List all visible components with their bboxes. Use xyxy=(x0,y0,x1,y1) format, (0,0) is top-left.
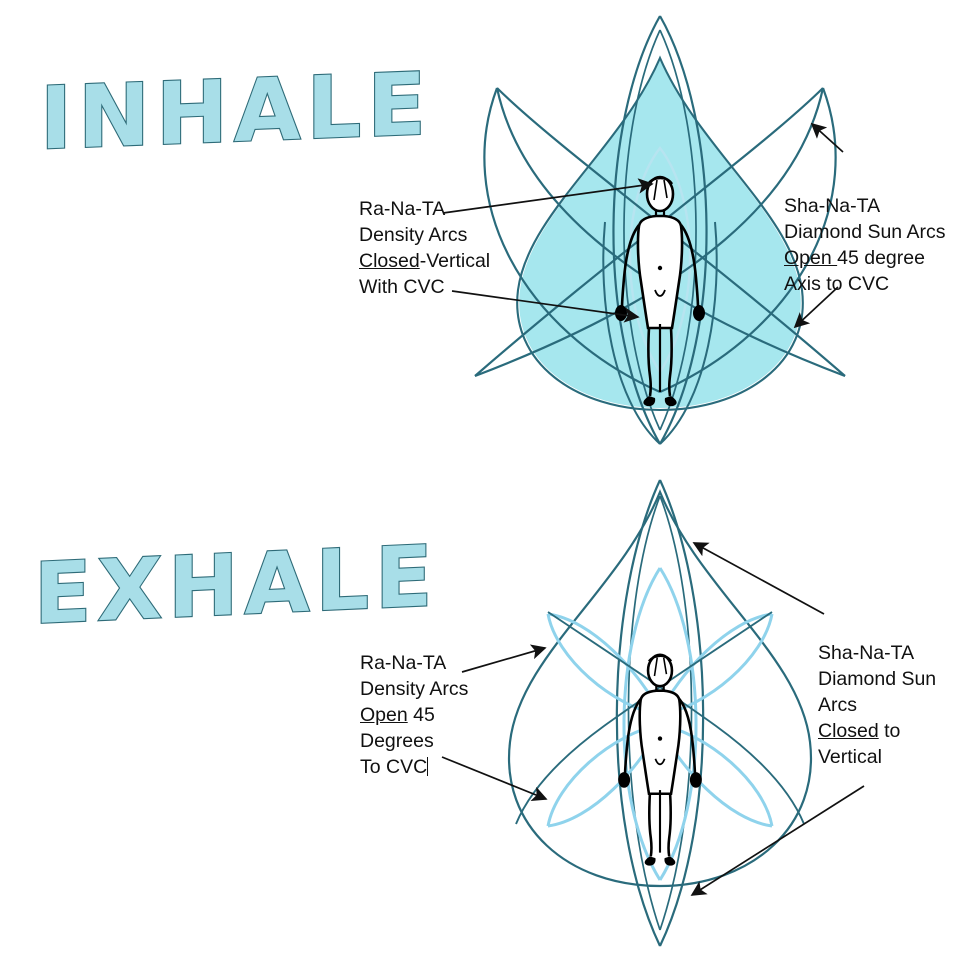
text-caret xyxy=(427,757,428,776)
annotation-line: Sha-Na-TA xyxy=(818,640,936,666)
diagram-canvas: INHALE EXHALE Ra-Na-TA Density Arcs Clos… xyxy=(0,0,960,960)
annotation-line: Vertical xyxy=(818,744,936,770)
annotation-line: Open 45 degree xyxy=(784,245,946,271)
annotation-line: With CVC xyxy=(359,274,490,300)
annotation-line: Degrees xyxy=(360,728,468,754)
exhale-right-lower-arrow xyxy=(692,786,864,895)
exhale-left-annotation: Ra-Na-TA Density Arcs Open 45 Degrees To… xyxy=(360,650,468,780)
inhale-left-annotation: Ra-Na-TA Density Arcs Closed-Vertical Wi… xyxy=(359,196,490,300)
exhale-title: EXHALE xyxy=(34,527,438,643)
annotation-line: Axis to CVC xyxy=(784,271,946,297)
annotation-line: Density Arcs xyxy=(359,222,490,248)
annotation-line: Diamond Sun xyxy=(818,666,936,692)
annotation-line: Ra-Na-TA xyxy=(359,196,490,222)
inhale-right-annotation: Sha-Na-TA Diamond Sun Arcs Open 45 degre… xyxy=(784,193,946,297)
exhale-diagram xyxy=(442,480,864,946)
annotation-line: Closed to xyxy=(818,718,936,744)
annotation-line: Arcs xyxy=(818,692,936,718)
annotation-line: To CVC xyxy=(360,754,468,780)
annotation-line: Ra-Na-TA xyxy=(360,650,468,676)
annotation-line: Open 45 xyxy=(360,702,468,728)
exhale-left-upper-arrow xyxy=(462,648,545,672)
annotation-line: Density Arcs xyxy=(360,676,468,702)
annotation-line: Diamond Sun Arcs xyxy=(784,219,946,245)
exhale-right-annotation: Sha-Na-TA Diamond Sun Arcs Closed to Ver… xyxy=(818,640,936,770)
annotation-line: Closed-Vertical xyxy=(359,248,490,274)
annotation-line: Sha-Na-TA xyxy=(784,193,946,219)
inhale-title: INHALE xyxy=(40,54,432,169)
inhale-right-upper-arrow xyxy=(812,124,843,152)
